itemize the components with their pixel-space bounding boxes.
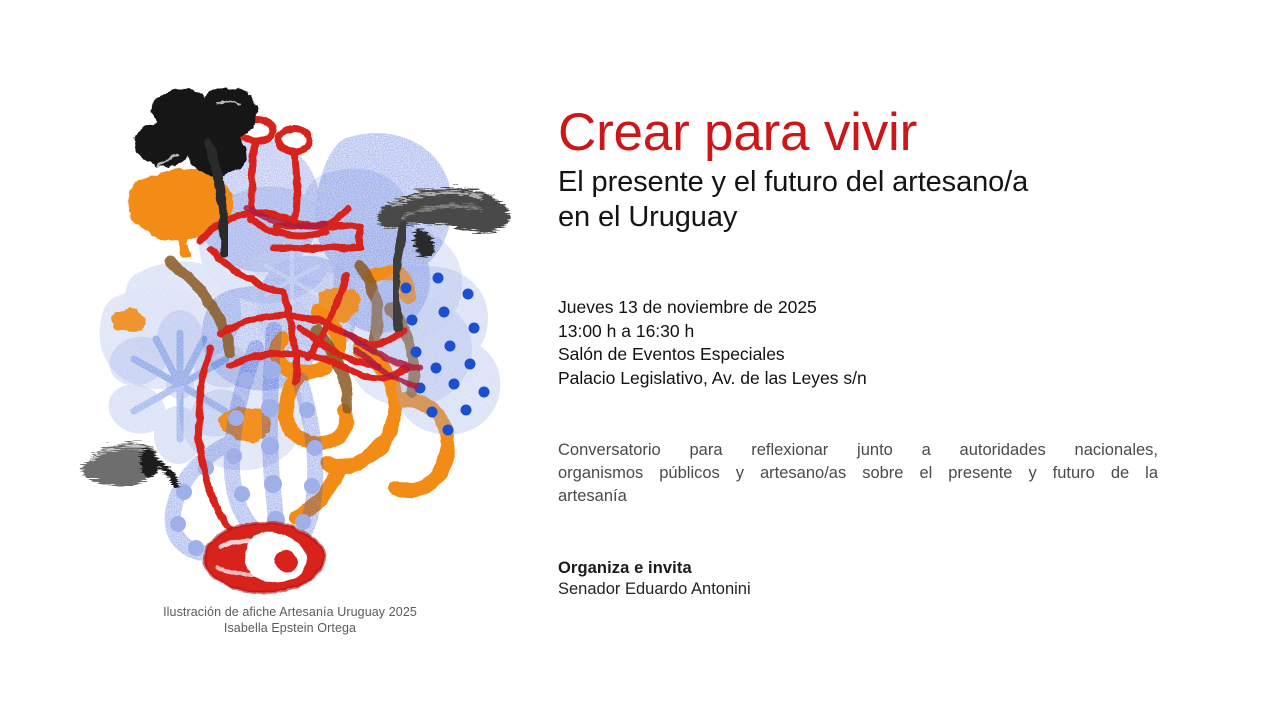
artesania-uruguay-illustration xyxy=(60,80,520,600)
organizer-block: Organiza e invita Senador Eduardo Antoni… xyxy=(558,558,1198,600)
event-description: Conversatorio para reflexionar junto a a… xyxy=(558,439,1158,508)
event-time: 13:00 h a 16:30 h xyxy=(558,320,1198,344)
event-title: Crear para vivir xyxy=(558,104,1198,161)
event-description-line-1: Conversatorio para reflexionar junto a a… xyxy=(558,439,1158,462)
black-butterfly-flower xyxy=(135,87,258,175)
red-eye-base xyxy=(204,523,324,593)
event-details: Jueves 13 de noviembre de 2025 13:00 h a… xyxy=(558,296,1198,390)
event-description-line-3: artesanía xyxy=(558,485,1158,508)
event-venue: Salón de Eventos Especiales xyxy=(558,343,1198,367)
event-poster: Ilustración de afiche Artesanía Uruguay … xyxy=(0,0,1280,720)
event-address: Palacio Legislativo, Av. de las Leyes s/… xyxy=(558,367,1198,391)
organizer-name: Senador Eduardo Antonini xyxy=(558,579,1198,600)
event-description-line-2: organismos públicos y artesano/as sobre … xyxy=(558,462,1158,485)
artwork-illustration: Ilustración de afiche Artesanía Uruguay … xyxy=(60,80,520,600)
artwork-caption: Ilustración de afiche Artesanía Uruguay … xyxy=(60,604,520,636)
artwork-caption-line-2: Isabella Epstein Ortega xyxy=(60,620,520,636)
event-subtitle: El presente y el futuro del artesano/a e… xyxy=(558,165,1183,235)
artwork-caption-line-1: Ilustración de afiche Artesanía Uruguay … xyxy=(60,604,520,620)
event-date: Jueves 13 de noviembre de 2025 xyxy=(558,296,1198,320)
organizer-label: Organiza e invita xyxy=(558,558,1198,579)
artwork-column: Ilustración de afiche Artesanía Uruguay … xyxy=(60,80,520,660)
event-subtitle-line-2: en el Uruguay xyxy=(558,200,1183,235)
event-subtitle-line-1: El presente y el futuro del artesano/a xyxy=(558,165,1183,200)
text-column: Crear para vivir El presente y el futuro… xyxy=(558,104,1198,600)
